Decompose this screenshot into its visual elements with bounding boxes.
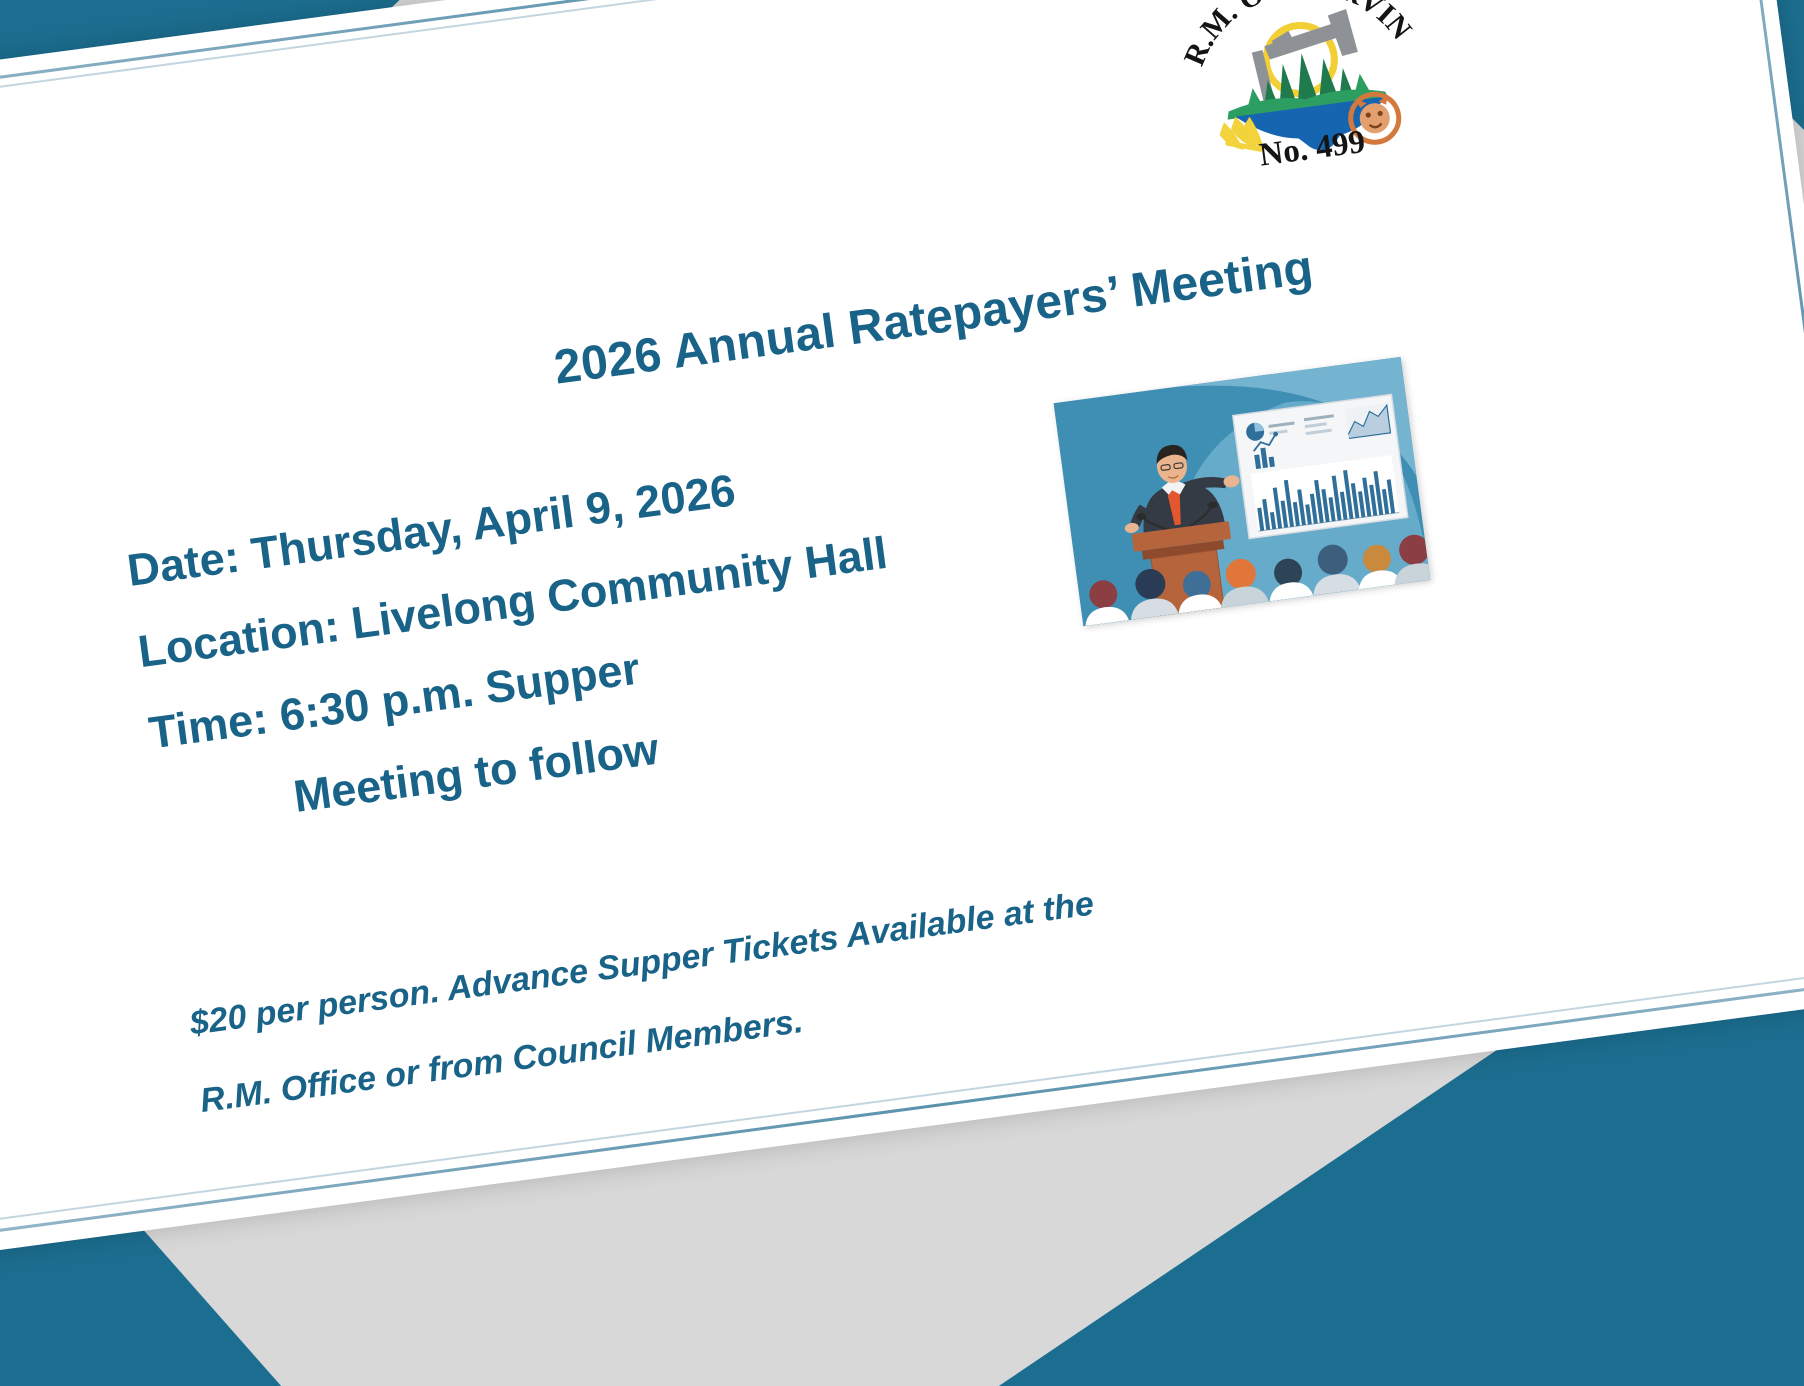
ticket-note-line-1: $20 per person. Advance Supper Tickets A… [188,884,1097,1043]
page-title: 2026 Annual Ratepayers’ Meeting [551,240,1316,396]
detail-line-meeting: Meeting to follow [291,723,662,823]
presentation-illustration [1054,357,1431,626]
rm-of-mervin-logo: R.M. OF MERVIN No. 499 [1157,0,1443,181]
presentation-screen [1233,394,1408,538]
poster-background: R.M. OF MERVIN No. 499 2026 Annual Ratep… [0,0,1804,1386]
